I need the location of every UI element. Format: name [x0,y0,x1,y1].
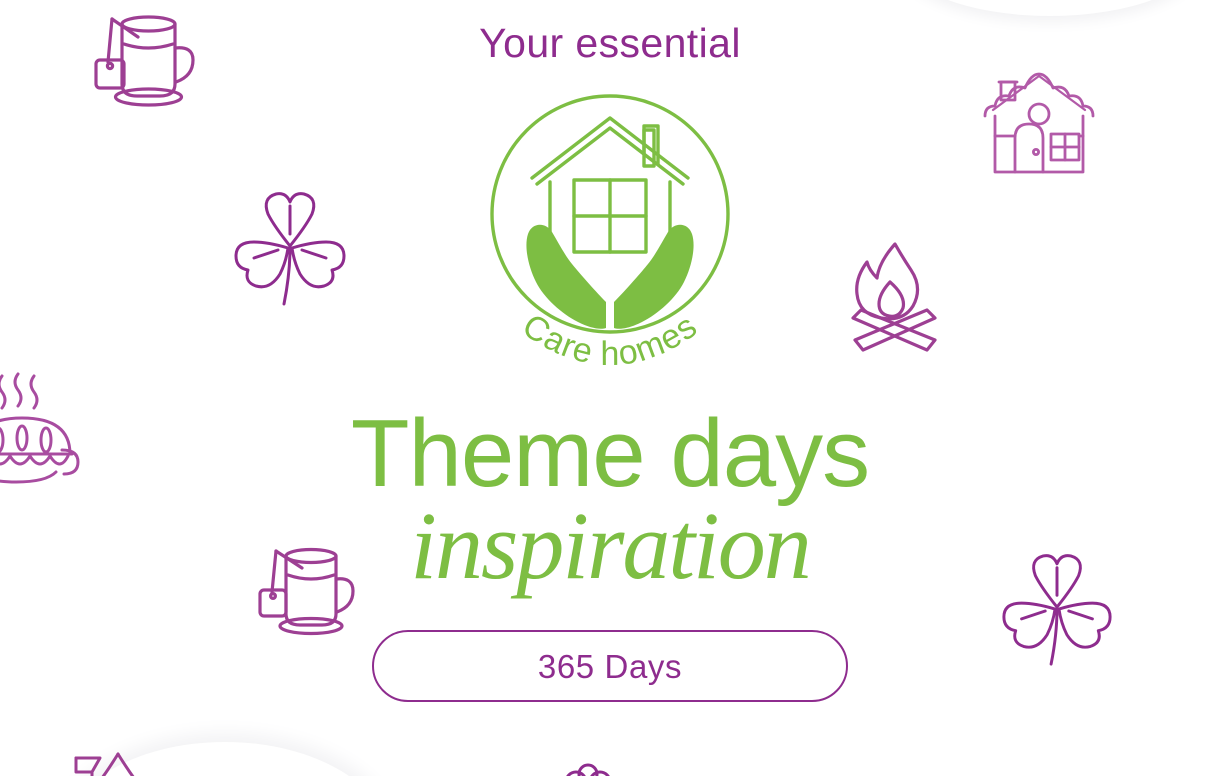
campfire-icon [843,240,945,358]
care-homes-logo: Care homes [480,84,740,384]
background-arc-bottom-left [60,742,390,776]
days-pill-button[interactable]: 365 Days [372,630,848,702]
gingerbread-house-icon [975,60,1103,182]
background-arc-top-right [900,0,1200,16]
logo-house-icon [532,118,688,256]
eyebrow-text: Your essential [0,20,1220,67]
shamrock-icon [228,190,352,310]
script-word: inspiration [410,492,809,599]
script-block: inspiration [0,492,1220,612]
flower-icon [560,760,618,776]
picnic-icon [72,752,152,776]
logo-caption: Care homes [516,307,705,374]
days-pill-label: 365 Days [538,650,682,683]
poster-canvas: Your essential [0,0,1220,776]
